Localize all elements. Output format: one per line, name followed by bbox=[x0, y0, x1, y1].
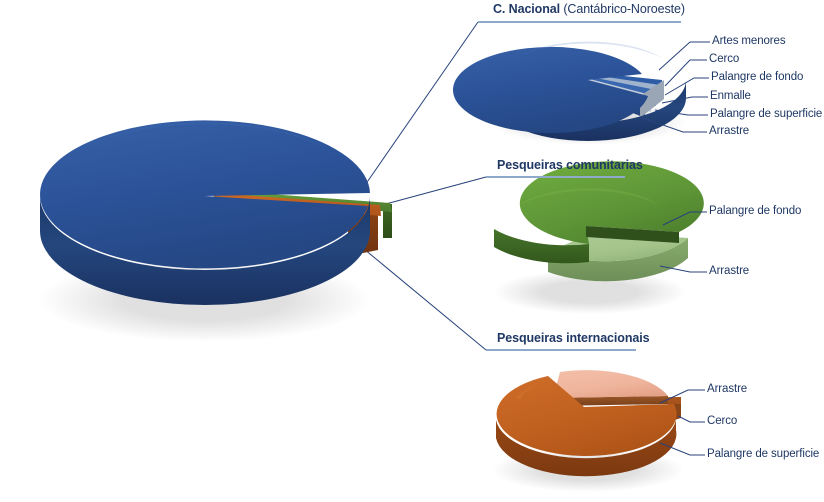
internacionais-title-rule bbox=[486, 349, 636, 351]
nacional-title-bold: C. Nacional bbox=[493, 2, 560, 16]
internacionais-title: Pesqueiras internacionais bbox=[497, 331, 649, 345]
nacional-title-rule bbox=[478, 21, 681, 23]
connector-to-internacionais bbox=[364, 249, 486, 350]
main-slice-nacular-top bbox=[40, 120, 370, 268]
main-pie-chart bbox=[40, 120, 392, 342]
label-nacional-palangre-de-fondo: Palangre de fondo bbox=[711, 71, 803, 83]
figure-canvas: C. Nacional (Cantábrico-Noroeste) Pesque… bbox=[0, 0, 824, 502]
breakout-pie-internacionais bbox=[492, 370, 684, 492]
breakout-pie-comunitarias bbox=[494, 161, 704, 314]
main-slice-nacional bbox=[40, 120, 370, 305]
label-nacional-enmalle: Enmalle bbox=[710, 90, 751, 102]
label-internacionais-palangre-superficie: Palangre de superficie bbox=[707, 448, 819, 460]
leader-palangre-fondo bbox=[665, 78, 709, 95]
nacional-title: C. Nacional (Cantábrico-Noroeste) bbox=[493, 2, 685, 16]
comunitarias-title-rule bbox=[486, 176, 625, 178]
label-nacional-palangre-superficie: Palangre de superficie bbox=[710, 108, 822, 120]
nacional-title-rest: (Cantábrico-Noroeste) bbox=[563, 2, 685, 16]
pie-graphics-layer bbox=[0, 0, 824, 502]
label-internacionais-cerco: Cerco bbox=[707, 415, 737, 427]
label-nacional-cerco: Cerco bbox=[709, 53, 739, 65]
label-nacional-arrastre: Arrastre bbox=[709, 125, 749, 137]
label-comunitarias-palangre-de-fondo: Palangre de fondo bbox=[709, 205, 801, 217]
nacional-artes-menores-top bbox=[453, 47, 648, 133]
leader-internacionais-cerco bbox=[678, 416, 705, 422]
label-nacional-artes-menores: Artes menores bbox=[712, 35, 785, 47]
internacionais-arrastre-top bbox=[553, 370, 668, 398]
label-internacionais-arrastre: Arrastre bbox=[707, 383, 747, 395]
label-comunitarias-arrastre: Arrastre bbox=[709, 265, 749, 277]
connector-to-nacional-2 bbox=[380, 22, 478, 206]
connector-to-comunitarias bbox=[382, 177, 486, 205]
comunitarias-title: Pesqueiras comunitarias bbox=[497, 158, 643, 172]
breakout-pie-nacional bbox=[453, 42, 686, 145]
